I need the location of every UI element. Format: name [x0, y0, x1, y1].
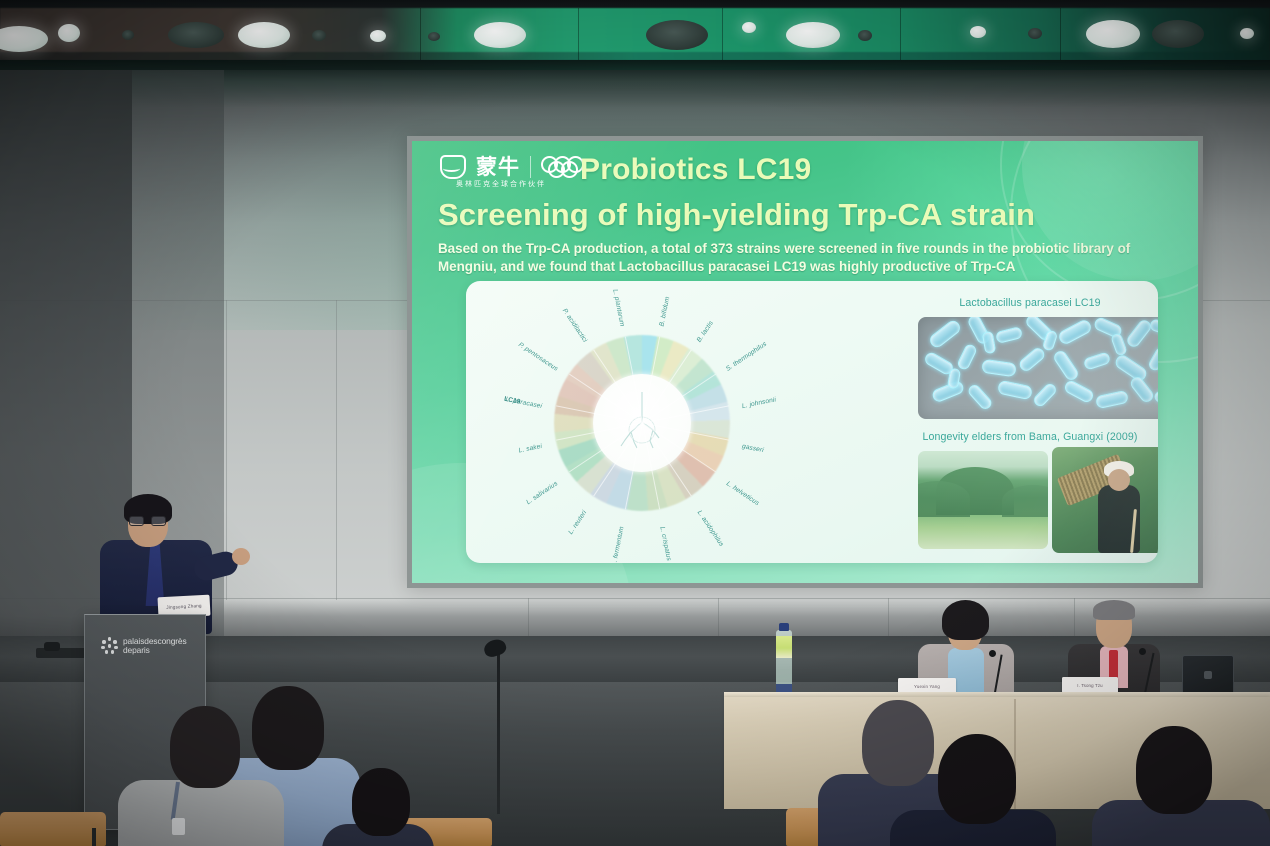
- conference-room-scene: 蒙牛 奥林匹克全球合作伙伴 Probiotics LC19 Screening …: [0, 0, 1270, 846]
- bacteria-rod: [1095, 390, 1129, 409]
- podium-device: [44, 642, 60, 651]
- venue-logo: palaisdescongrès deparis: [101, 637, 187, 655]
- bacteria-rod: [1057, 318, 1094, 346]
- audience-head: [170, 706, 240, 788]
- mengniu-name-cn: 蒙牛: [476, 157, 520, 178]
- ceiling-seam: [722, 8, 723, 60]
- chart-taxon-label: L. helveticus: [725, 480, 760, 507]
- longevity-photos-caption: Longevity elders from Bama, Guangxi (200…: [884, 431, 1158, 443]
- table-microphone-right-icon: [1139, 648, 1146, 655]
- elder-head: [1108, 469, 1130, 491]
- ceiling-recess: [312, 30, 326, 41]
- audience-head: [252, 686, 324, 770]
- panelist-left-nameplate-text: Yuexin Yang: [914, 684, 940, 689]
- audience-head: [352, 768, 410, 836]
- bacteria-rod: [1052, 349, 1081, 383]
- micrograph-caption: Lactobacillus paracasei LC19: [884, 297, 1158, 309]
- ceiling-spotlight: [742, 22, 756, 33]
- bacteria-rod: [1147, 346, 1158, 373]
- panelist-right-nameplate: I. Tsong Tzu: [1062, 677, 1118, 693]
- chart-taxon-label: L. plantarum: [611, 289, 625, 327]
- ceiling-seam: [420, 8, 421, 60]
- ceiling-spotlight: [238, 22, 290, 48]
- logo-divider: [530, 156, 531, 178]
- slide-content-card: B. bifidumB. lactisS. thermophilusL. joh…: [466, 281, 1158, 563]
- table-microphone-left-icon: [989, 650, 996, 657]
- ceiling-recess: [1028, 28, 1042, 39]
- bacteria-rod: [1110, 332, 1128, 356]
- bacteria-rod: [1128, 374, 1155, 404]
- bacteria-rod: [981, 359, 1017, 378]
- speaker-nameplate-text: Jingsong Zhang: [166, 603, 202, 610]
- venue-logo-text: palaisdescongrès deparis: [123, 637, 187, 655]
- panelist-right-nameplate-text: I. Tsong Tzu: [1077, 683, 1103, 688]
- chart-taxon-label: L. fermentum: [611, 526, 626, 563]
- chart-taxon-label: S. thermophilus: [725, 341, 768, 373]
- slide-title-primary: Probiotics LC19: [580, 153, 811, 187]
- ceiling-spotlight: [1086, 20, 1140, 48]
- ceiling-spotlight: [474, 22, 526, 48]
- microphone-stand: [497, 654, 500, 814]
- bacteria-rod: [1032, 381, 1059, 408]
- hill-shape: [918, 481, 970, 517]
- slide-title-secondary: Screening of high-yielding Trp-CA strain: [438, 197, 1035, 233]
- chart-taxon-label: L. reuteri: [567, 509, 588, 535]
- ceiling-recess: [858, 30, 872, 41]
- circular-phylogenetic-chart: B. bifidumB. lactisS. thermophilusL. joh…: [492, 287, 792, 559]
- bottle-label: [776, 636, 792, 658]
- bacteria-rod: [1149, 318, 1158, 336]
- ceiling-recess: [1152, 20, 1204, 48]
- ceiling-spotlight: [786, 22, 840, 48]
- chart-taxon-label: gasseri: [741, 443, 764, 454]
- chart-taxon-label: L. acidophilus: [696, 509, 725, 548]
- presentation-slide: 蒙牛 奥林匹克全球合作伙伴 Probiotics LC19 Screening …: [412, 141, 1198, 583]
- chart-taxon-label: P. acidilactici: [561, 308, 588, 344]
- ceiling-spotlight: [970, 26, 986, 38]
- bacteria-rod: [927, 318, 962, 350]
- glasses-icon: [129, 516, 167, 526]
- venue-logo-line2: deparis: [123, 646, 187, 655]
- bacteria-rod: [956, 343, 978, 372]
- ceiling-recess: [646, 20, 708, 50]
- laptop: [1182, 655, 1234, 697]
- audience-head: [938, 734, 1016, 824]
- slide-subtitle: Based on the Trp-CA production, a total …: [438, 240, 1180, 275]
- hill-shape: [1002, 485, 1048, 517]
- laptop-logo: [1204, 671, 1212, 679]
- chart-taxon-label: P. pentosaceus: [517, 341, 559, 372]
- bacteria-micrograph: [918, 317, 1158, 419]
- chart-taxon-label: L. sakei: [518, 443, 542, 454]
- mengniu-brand-lockup: 蒙牛: [440, 155, 595, 179]
- wall-panel-seam: [336, 300, 337, 600]
- chart-taxon-label: L. crispatus: [658, 526, 672, 562]
- longevity-elder-photo: [1052, 447, 1158, 553]
- ceiling-recess: [168, 22, 224, 48]
- bacteria-rod: [1153, 385, 1158, 405]
- bacteria-rod: [982, 331, 997, 355]
- panelist-right-hair: [1093, 600, 1135, 620]
- water-bottle: [776, 630, 792, 696]
- chart-taxon-label: B. lactis: [696, 320, 715, 344]
- audience-torso: [118, 780, 284, 846]
- bacteria-rod: [1125, 318, 1154, 350]
- ceiling-seam: [900, 8, 901, 60]
- bacteria-rod: [1063, 379, 1096, 405]
- ceiling-spotlight: [58, 24, 80, 42]
- chart-highlight-label: LC19: [503, 396, 521, 406]
- ceiling-spotlight: [1240, 28, 1254, 39]
- bacteria-rod: [995, 326, 1023, 344]
- chart-taxon-label: L. johnsonii: [741, 396, 776, 410]
- chart-taxon-label: B. bifidum: [658, 296, 671, 327]
- mengniu-cup-icon: [440, 155, 466, 179]
- palais-flower-icon: [101, 637, 118, 654]
- panelist-left-hair: [942, 600, 989, 640]
- audience-head: [862, 700, 934, 786]
- chair-leg: [92, 828, 96, 846]
- badge: [172, 818, 185, 835]
- bacteria-rod: [1083, 351, 1111, 370]
- bacteria-rod: [997, 380, 1033, 401]
- mengniu-partner-text: 奥林匹克全球合作伙伴: [456, 179, 546, 189]
- bama-landscape-photo: [918, 451, 1048, 549]
- ceiling-recess: [428, 32, 440, 41]
- presenter-hand: [232, 548, 250, 565]
- chair: [0, 812, 106, 846]
- ceiling-spotlight: [370, 30, 386, 42]
- ceiling-seam: [1060, 8, 1061, 60]
- bacteria-rod: [966, 383, 994, 412]
- chart-taxon-label: L. salivarius: [525, 480, 559, 506]
- audience-head: [1136, 726, 1212, 814]
- bacteria-rod: [1017, 346, 1047, 374]
- ceiling-recess: [122, 30, 134, 40]
- bottle-cap: [779, 623, 789, 631]
- ceiling-seam: [578, 8, 579, 60]
